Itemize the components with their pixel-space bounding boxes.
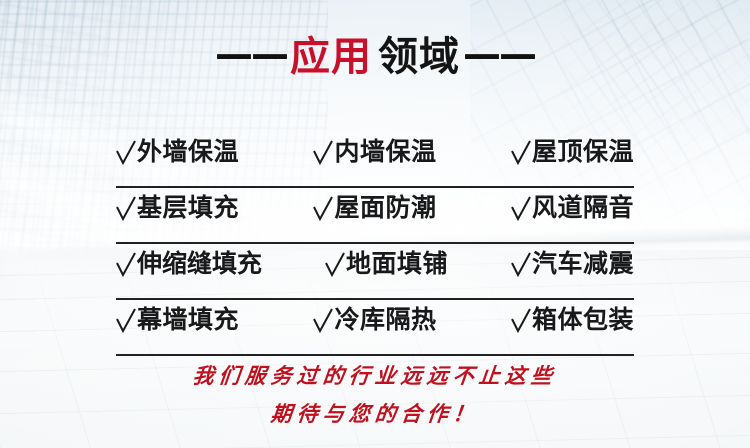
application-field-label: 屋顶保温 — [532, 132, 634, 168]
application-fields-list: 外墙保温 内墙保温 屋顶保温 — [116, 132, 634, 356]
application-field-label: 地面填铺 — [346, 244, 448, 280]
application-field-item[interactable]: 基层填充 — [116, 188, 239, 224]
title-black-text: 领域 — [375, 36, 463, 78]
application-fields-banner: —— 应用 领域 —— 外墙保温 内墙保温 — [0, 0, 750, 448]
check-radical-icon — [116, 307, 136, 333]
application-field-item[interactable]: 外墙保温 — [116, 132, 239, 168]
application-field-label: 屋面防潮 — [334, 188, 436, 224]
check-radical-icon — [325, 251, 345, 277]
application-field-item[interactable]: 地面填铺 — [325, 244, 448, 280]
check-radical-icon — [116, 251, 136, 277]
check-radical-icon — [511, 251, 531, 277]
application-field-item[interactable]: 屋顶保温 — [511, 132, 634, 168]
check-radical-icon — [313, 195, 333, 221]
application-field-item[interactable]: 风道隔音 — [511, 188, 634, 224]
application-field-label: 基层填充 — [137, 188, 239, 224]
footer-tagline-line-2: 期待与您的合作！ — [0, 398, 750, 428]
title-dash-right: —— — [463, 35, 535, 73]
check-radical-icon — [511, 139, 531, 165]
check-radical-icon — [313, 139, 333, 165]
banner-content: —— 应用 领域 —— 外墙保温 内墙保温 — [0, 0, 750, 448]
check-radical-icon — [313, 307, 333, 333]
application-field-item[interactable]: 伸缩缝填充 — [116, 244, 262, 280]
check-radical-icon — [511, 195, 531, 221]
check-radical-icon — [116, 195, 136, 221]
check-radical-icon — [116, 139, 136, 165]
check-radical-icon — [511, 307, 531, 333]
application-field-label: 外墙保温 — [137, 132, 239, 168]
application-field-item[interactable]: 幕墙填充 — [116, 300, 239, 336]
page-title: —— 应用 领域 —— — [0, 36, 750, 78]
application-field-label: 内墙保温 — [334, 132, 436, 168]
application-field-item[interactable]: 冷库隔热 — [313, 300, 436, 336]
title-red-text: 应用 — [287, 36, 375, 78]
application-field-label: 幕墙填充 — [137, 300, 239, 336]
application-field-item[interactable]: 屋面防潮 — [313, 188, 436, 224]
application-fields-row: 幕墙填充 冷库隔热 箱体包装 — [116, 300, 634, 356]
application-fields-row: 基层填充 屋面防潮 风道隔音 — [116, 188, 634, 244]
application-field-label: 冷库隔热 — [334, 300, 436, 336]
application-field-label: 伸缩缝填充 — [137, 244, 262, 280]
application-fields-row: 外墙保温 内墙保温 屋顶保温 — [116, 132, 634, 188]
application-field-item[interactable]: 内墙保温 — [313, 132, 436, 168]
application-field-label: 风道隔音 — [532, 188, 634, 224]
application-field-label: 箱体包装 — [532, 300, 634, 336]
footer-tagline-line-1: 我们服务过的行业远远不止这些 — [0, 360, 750, 390]
application-field-label: 汽车减震 — [532, 244, 634, 280]
title-dash-left: —— — [215, 35, 287, 73]
application-fields-row: 伸缩缝填充 地面填铺 汽车减震 — [116, 244, 634, 300]
application-field-item[interactable]: 箱体包装 — [511, 300, 634, 336]
application-field-item[interactable]: 汽车减震 — [511, 244, 634, 280]
